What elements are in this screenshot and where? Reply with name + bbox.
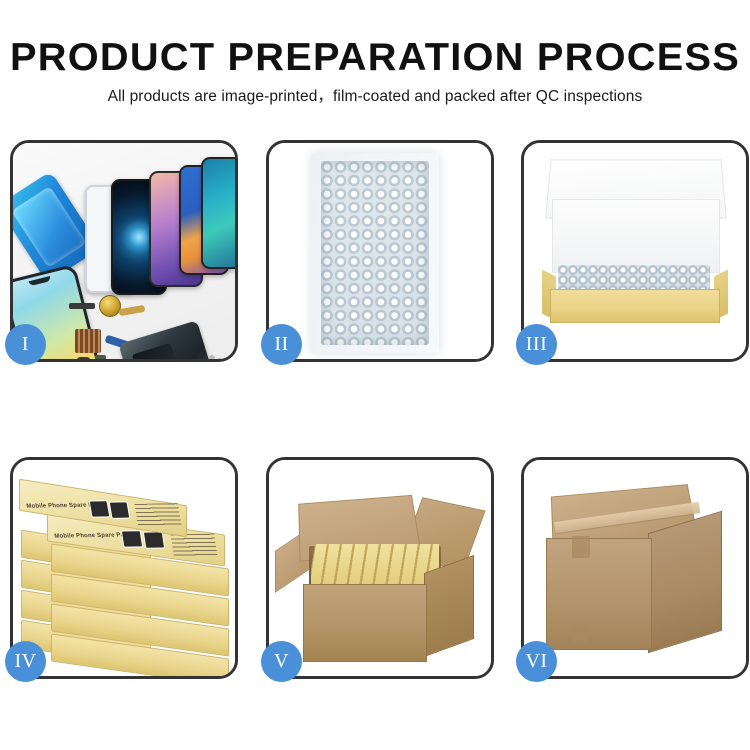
page-subtitle: All products are image-printed，film-coat… (0, 84, 750, 106)
scene-products (13, 143, 235, 359)
panel-badge-3: III (516, 324, 557, 365)
small-part-icon (77, 357, 90, 359)
box-spec-lines (134, 503, 181, 526)
panel-inner-box-packing: III (521, 140, 749, 362)
product-preparation-infographic: PRODUCT PREPARATION PROCESS All products… (0, 0, 750, 750)
box-front-wall-icon (550, 289, 720, 323)
panel-carton-filling: V (266, 457, 494, 679)
scene-inner-box (524, 143, 746, 359)
carton-side-icon (648, 511, 722, 654)
scene-sealed-carton (524, 460, 746, 676)
carton-side-icon (424, 555, 474, 657)
panel-bubble-wrap: II (266, 140, 494, 362)
screws-icon (209, 355, 233, 359)
scene-carton-filling (269, 460, 491, 676)
panel-products-and-spare-parts: I (10, 140, 238, 362)
panel-badge-1: I (5, 324, 46, 365)
box-stack-icon: Mobile Phone Spare Parts Mobile Phone Sp… (19, 478, 231, 668)
small-part-icon (95, 355, 106, 359)
notch-icon (29, 276, 52, 286)
carton-tab-icon (572, 624, 588, 642)
box-back-wall-icon (552, 199, 720, 273)
carton-front-icon (303, 584, 427, 662)
small-part-icon (69, 303, 95, 309)
box-phone-image (143, 531, 165, 549)
box-spec-lines (171, 534, 218, 557)
page-title: PRODUCT PREPARATION PROCESS (0, 36, 750, 80)
speaker-coil-icon (99, 295, 121, 317)
connector-chip-icon (75, 329, 101, 353)
panel-badge-5: V (261, 641, 302, 682)
panel-sealed-carton: VI (521, 457, 749, 679)
panel-stacked-retail-boxes: Mobile Phone Spare Parts Mobile Phone Sp… (10, 457, 238, 679)
phone-screen-teal-icon (201, 157, 235, 269)
carton-tab-icon (572, 536, 590, 558)
panel-badge-2: II (261, 324, 302, 365)
panel-badge-4: IV (5, 641, 46, 682)
scene-bubble-wrap (269, 143, 491, 359)
panel-badge-6: VI (516, 641, 557, 682)
carton-front-icon (546, 538, 652, 650)
scene-box-stack: Mobile Phone Spare Parts Mobile Phone Sp… (13, 460, 235, 676)
bubble-wrap-bubbles-icon (321, 161, 429, 345)
box-phone-image (89, 500, 111, 518)
box-phone-image (121, 530, 143, 548)
box-phone-image (109, 501, 131, 519)
